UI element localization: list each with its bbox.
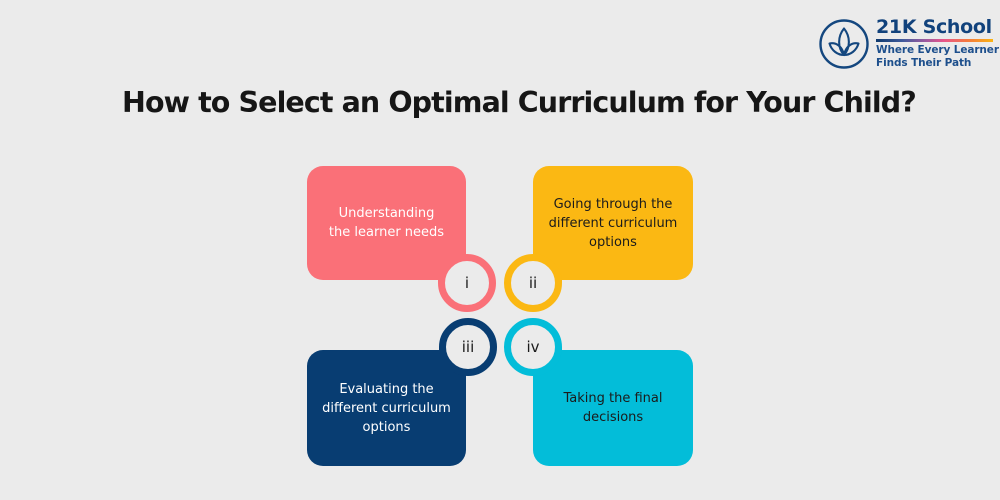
step-card-2-text: Going through thedifferent curriculumopt…: [549, 195, 678, 252]
brand-logo-text: 21K School Where Every Learner Finds The…: [876, 16, 996, 70]
step-card-3-text: Evaluating thedifferent curriculumoption…: [322, 380, 451, 437]
step-number-label-4: iv: [526, 340, 539, 355]
step-card-1-text: Understandingthe learner needs: [329, 204, 444, 242]
step-number-label-2: ii: [529, 276, 537, 291]
brand-name: 21K School: [876, 16, 996, 38]
infographic-canvas: 21K School Where Every Learner Finds The…: [0, 0, 1000, 500]
step-number-label-1: i: [465, 276, 469, 291]
step-number-badge-2: ii: [504, 254, 562, 312]
brand-gradient-rule: [876, 39, 993, 42]
lotus-circle-logo-icon: [818, 18, 870, 70]
brand-tagline-line-2: Finds Their Path: [876, 57, 996, 70]
step-number-badge-1: i: [438, 254, 496, 312]
step-number-badge-4: iv: [504, 318, 562, 376]
brand-logo: 21K School Where Every Learner Finds The…: [812, 12, 992, 72]
brand-tagline-line-1: Where Every Learner: [876, 44, 996, 57]
step-number-label-3: iii: [462, 340, 475, 355]
page-title: How to Select an Optimal Curriculum for …: [122, 86, 882, 119]
step-number-badge-3: iii: [439, 318, 497, 376]
step-card-4-text: Taking the finaldecisions: [564, 389, 663, 427]
